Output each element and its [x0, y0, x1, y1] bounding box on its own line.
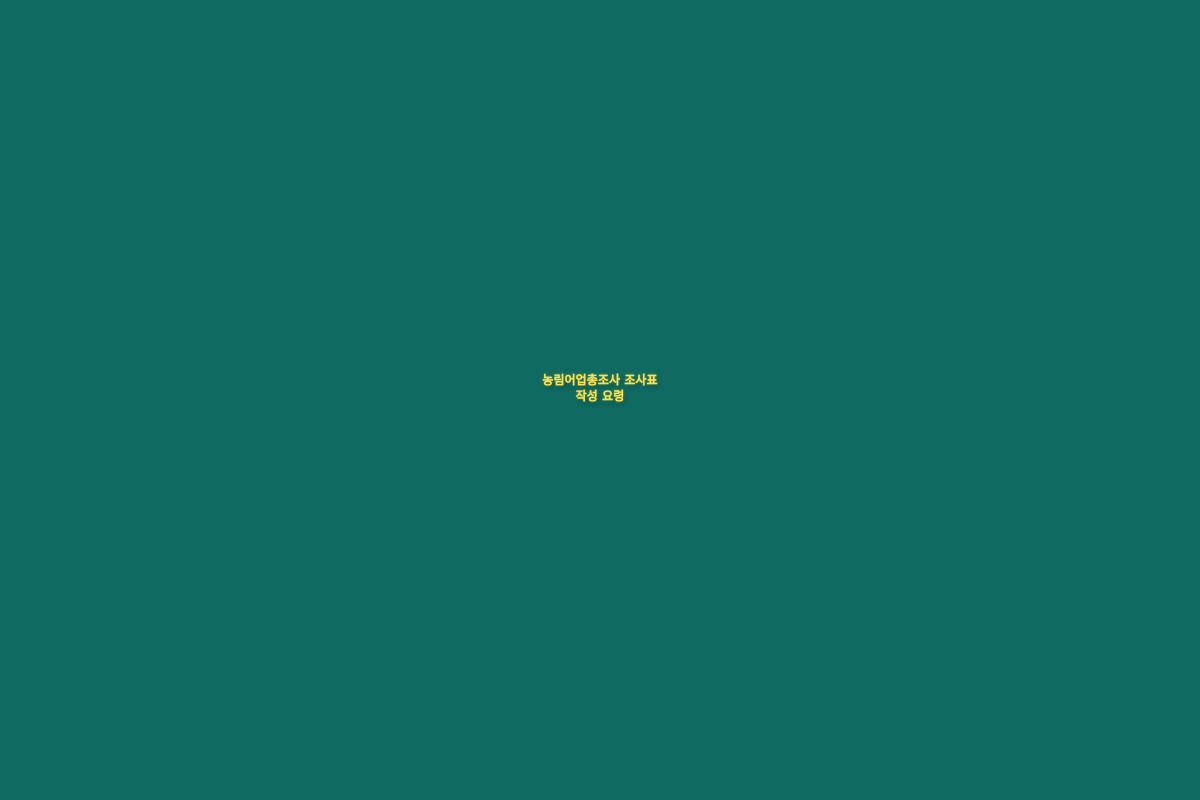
page-title: 농림어업총조사 조사표 작성 요령 [0, 373, 1200, 405]
page-title-line-1: 농림어업총조사 조사표 [0, 373, 1200, 389]
page-title-line-2: 작성 요령 [0, 389, 1200, 405]
title-card: 농림어업총조사 조사표 작성 요령 [0, 0, 1200, 800]
